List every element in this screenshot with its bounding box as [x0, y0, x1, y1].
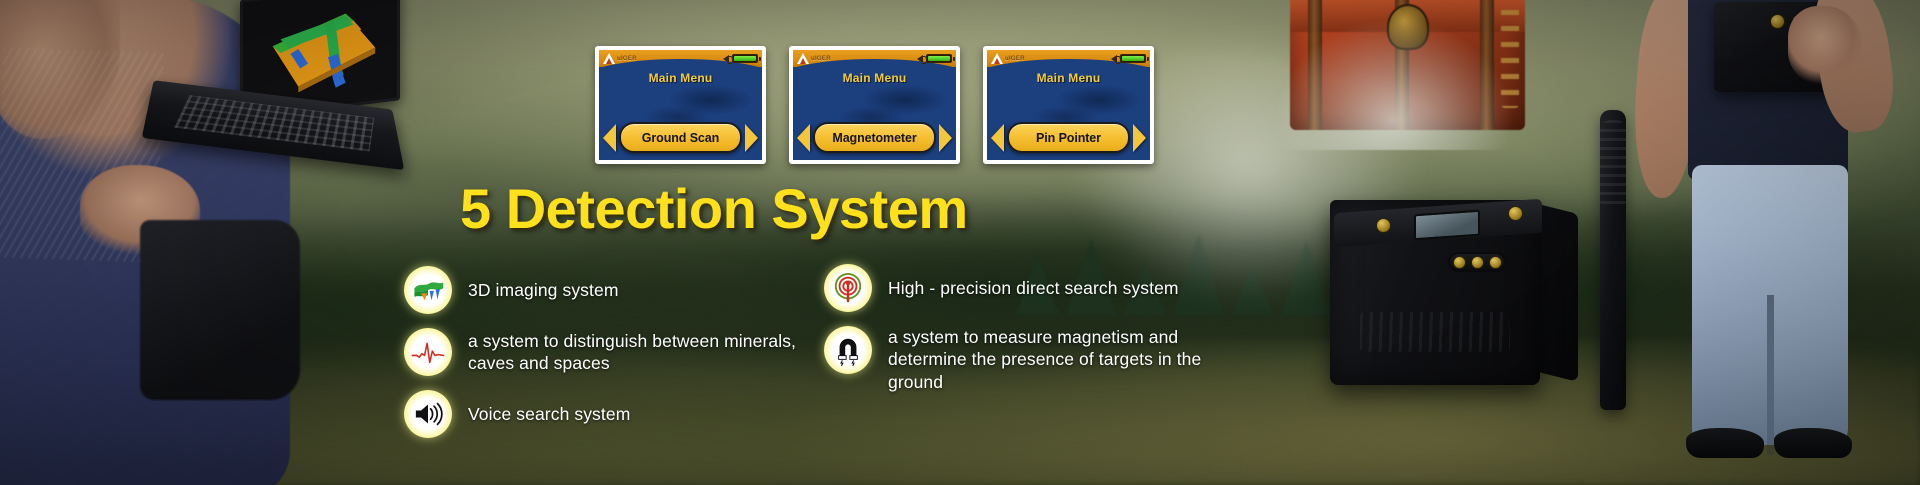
menu-panel-ground-scan[interactable]: uIGER Main Menu Ground Scan [595, 46, 766, 164]
mode-selector: Magnetometer [797, 122, 952, 153]
mode-selector: Ground Scan [603, 122, 758, 153]
magnet-icon [824, 326, 872, 374]
menu-panel-pin-pointer[interactable]: uIGER Main Menu Pin Pointer [983, 46, 1154, 164]
next-mode-arrow-icon[interactable] [1133, 124, 1146, 152]
status-indicators [1111, 54, 1146, 63]
brand-name: uIGER [811, 56, 831, 62]
mode-selector: Pin Pointer [991, 122, 1146, 153]
status-indicators [917, 54, 952, 63]
brand-logo: uIGER [797, 53, 831, 64]
panel-title: Main Menu [599, 71, 762, 85]
menu-panel-magnetometer[interactable]: uIGER Main Menu Magnetometer [789, 46, 960, 164]
status-indicators [723, 54, 758, 63]
mode-button[interactable]: Ground Scan [619, 122, 742, 153]
prev-mode-arrow-icon[interactable] [797, 124, 810, 152]
promo-banner: uIGER Main Menu Ground Scan uIG [0, 0, 1920, 485]
sound-icon [723, 55, 729, 63]
feature-label: High - precision direct search system [888, 277, 1179, 299]
brand-name: uIGER [617, 56, 637, 62]
list-item: a system to distinguish between minerals… [404, 328, 804, 376]
feature-label: a system to distinguish between minerals… [468, 330, 804, 375]
menu-panel-group: uIGER Main Menu Ground Scan uIG [595, 46, 1154, 164]
feature-list-left: 3D imaging system a system to distinguis… [404, 266, 804, 452]
mountain-logo-icon [797, 53, 809, 64]
feature-label: a system to measure magnetism and determ… [888, 326, 1244, 393]
next-mode-arrow-icon[interactable] [939, 124, 952, 152]
battery-icon [732, 54, 758, 63]
sound-icon [1111, 55, 1117, 63]
mode-button[interactable]: Pin Pointer [1007, 122, 1130, 153]
mode-button[interactable]: Magnetometer [813, 122, 936, 153]
page-title: 5 Detection System [460, 176, 968, 241]
ecg-waveform-icon [404, 328, 452, 376]
brand-name: uIGER [1005, 56, 1025, 62]
radar-signal-icon [824, 264, 872, 312]
prev-mode-arrow-icon[interactable] [603, 124, 616, 152]
mountain-logo-icon [991, 53, 1003, 64]
list-item: a system to measure magnetism and determ… [824, 326, 1244, 393]
brand-logo: uIGER [991, 53, 1025, 64]
list-item: High - precision direct search system [824, 264, 1244, 312]
mountain-logo-icon [603, 53, 615, 64]
3d-terrain-icon [404, 266, 452, 314]
panel-title: Main Menu [793, 71, 956, 85]
battery-icon [926, 54, 952, 63]
sound-icon [917, 55, 923, 63]
next-mode-arrow-icon[interactable] [745, 124, 758, 152]
prev-mode-arrow-icon[interactable] [991, 124, 1004, 152]
feature-label: 3D imaging system [468, 279, 619, 301]
panel-title: Main Menu [987, 71, 1150, 85]
battery-icon [1120, 54, 1146, 63]
feature-list-right: High - precision direct search system a … [824, 264, 1244, 407]
speaker-icon [404, 390, 452, 438]
list-item: Voice search system [404, 390, 804, 438]
feature-label: Voice search system [468, 403, 630, 425]
brand-logo: uIGER [603, 53, 637, 64]
list-item: 3D imaging system [404, 266, 804, 314]
